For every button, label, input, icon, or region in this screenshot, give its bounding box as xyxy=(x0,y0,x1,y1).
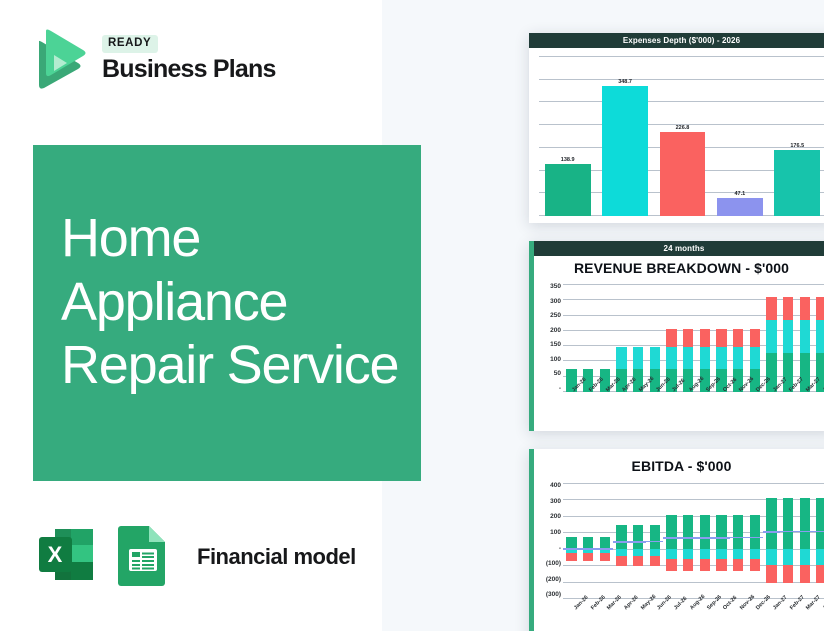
cogs-segment[interactable] xyxy=(633,549,643,556)
bar[interactable] xyxy=(602,86,648,216)
y-axis-tick: 150 xyxy=(535,342,561,349)
cogs-segment[interactable] xyxy=(616,549,626,556)
revenue-segment[interactable] xyxy=(733,515,743,549)
expenses-depth-card[interactable]: Expenses Depth ($'000) - 2026 138.9348.7… xyxy=(529,33,824,223)
bar-segment[interactable] xyxy=(716,329,726,347)
bar-value-label: 176.5 xyxy=(790,143,804,149)
ebitda-trend-line xyxy=(730,537,747,539)
bar-segment[interactable] xyxy=(683,347,693,369)
bar-segment[interactable] xyxy=(683,329,693,347)
bar-segment[interactable] xyxy=(766,320,776,352)
stacked-bar-column[interactable] xyxy=(700,515,710,571)
y-axis-tick: (300) xyxy=(535,592,561,599)
cogs-segment[interactable] xyxy=(650,549,660,556)
revenue-segment[interactable] xyxy=(783,498,793,549)
microsoft-excel-icon: X xyxy=(33,521,100,593)
ebitda-title: EBITDA - $'000 xyxy=(529,458,824,474)
y-axis-tick: 400 xyxy=(535,483,561,490)
opex-segment[interactable] xyxy=(683,559,693,571)
stacked-bar-column[interactable] xyxy=(800,498,810,583)
ebitda-trend-line xyxy=(680,537,697,539)
bar-column[interactable]: 138.9 xyxy=(545,56,591,216)
y-axis-tick: (100) xyxy=(535,561,561,568)
revenue-segment[interactable] xyxy=(650,525,660,549)
revenue-breakdown-title: REVENUE BREAKDOWN - $'000 xyxy=(529,260,824,276)
ebitda-trend-line xyxy=(663,537,680,539)
ebitda-trend-line xyxy=(763,531,780,533)
bar-segment[interactable] xyxy=(816,297,824,320)
brand-name: Business Plans xyxy=(102,56,276,84)
bar-segment[interactable] xyxy=(783,297,793,320)
ebitda-trend-line xyxy=(630,541,647,543)
bar-segment[interactable] xyxy=(750,329,760,347)
brand-lockup: READY Business Plans xyxy=(33,27,276,91)
revenue-segment[interactable] xyxy=(666,515,676,549)
opex-segment[interactable] xyxy=(666,559,676,571)
revenue-segment[interactable] xyxy=(700,515,710,549)
stacked-bar-column[interactable] xyxy=(750,515,760,571)
y-axis-tick: (200) xyxy=(535,577,561,584)
revenue-segment[interactable] xyxy=(633,525,643,549)
stacked-bar-column[interactable] xyxy=(766,498,776,583)
ebitda-trend-line xyxy=(713,537,730,539)
revenue-segment[interactable] xyxy=(800,498,810,549)
revenue-segment[interactable] xyxy=(616,525,626,549)
stacked-bar-column[interactable] xyxy=(783,284,793,392)
stacked-bar-column[interactable] xyxy=(600,284,610,392)
opex-segment[interactable] xyxy=(700,559,710,571)
revenue-segment[interactable] xyxy=(716,515,726,549)
ebitda-trend-line xyxy=(813,531,824,533)
svg-text:X: X xyxy=(48,542,63,567)
cogs-segment[interactable] xyxy=(800,549,810,565)
ebitda-trend-line xyxy=(697,537,714,539)
stacked-bar-column[interactable] xyxy=(716,515,726,571)
stacked-bar-column[interactable] xyxy=(650,525,660,565)
financial-model-label: Financial model xyxy=(197,544,356,570)
stacked-bar-column[interactable] xyxy=(733,515,743,571)
revenue-segment[interactable] xyxy=(816,498,824,549)
cogs-segment[interactable] xyxy=(666,549,676,559)
cogs-segment[interactable] xyxy=(700,549,710,559)
bar-segment[interactable] xyxy=(816,320,824,352)
bar-segment[interactable] xyxy=(733,329,743,347)
cogs-segment[interactable] xyxy=(816,549,824,565)
ebitda-trend-line xyxy=(580,548,597,550)
bar-value-label: 348.7 xyxy=(618,79,632,85)
revenue-segment[interactable] xyxy=(566,537,576,549)
ebitda-trend-line xyxy=(596,548,613,550)
stacked-bar-column[interactable] xyxy=(733,284,743,392)
cogs-segment[interactable] xyxy=(683,549,693,559)
opex-segment[interactable] xyxy=(766,565,776,583)
google-sheets-icon xyxy=(115,521,173,593)
ebitda-trend-line xyxy=(747,537,764,539)
bar-column[interactable]: 348.7 xyxy=(602,56,648,216)
cogs-segment[interactable] xyxy=(766,549,776,565)
stacked-bar-column[interactable] xyxy=(633,284,643,392)
cogs-segment[interactable] xyxy=(783,549,793,565)
y-axis-tick: 300 xyxy=(535,499,561,506)
bar-column[interactable]: 176.5 xyxy=(774,56,820,216)
bar-segment[interactable] xyxy=(650,347,660,369)
expenses-depth-banner: Expenses Depth ($'000) - 2026 xyxy=(529,33,824,48)
y-axis-tick: - xyxy=(535,386,561,393)
opex-segment[interactable] xyxy=(783,565,793,583)
footer-row: X Financial model xyxy=(33,521,356,593)
stacked-bar-column[interactable] xyxy=(683,515,693,571)
ebitda-trend-line xyxy=(563,548,580,550)
hero-panel: Home Appliance Repair Service xyxy=(33,145,421,481)
revenue-segment[interactable] xyxy=(583,537,593,549)
cogs-segment[interactable] xyxy=(716,549,726,559)
page-title: Home Appliance Repair Service xyxy=(61,207,411,398)
opex-segment[interactable] xyxy=(650,556,660,566)
stacked-bar-column[interactable] xyxy=(783,498,793,583)
brand-text: READY Business Plans xyxy=(102,35,276,83)
bar-segment[interactable] xyxy=(750,347,760,369)
opex-segment[interactable] xyxy=(583,553,593,561)
bar-segment[interactable] xyxy=(633,347,643,369)
y-axis-tick: 250 xyxy=(535,313,561,320)
opex-segment[interactable] xyxy=(733,559,743,571)
cogs-segment[interactable] xyxy=(733,549,743,559)
opex-segment[interactable] xyxy=(616,556,626,566)
stacked-bar-column[interactable] xyxy=(566,284,576,392)
opex-segment[interactable] xyxy=(750,559,760,571)
bar[interactable] xyxy=(774,150,820,216)
bar-segment[interactable] xyxy=(766,297,776,320)
bar[interactable] xyxy=(545,164,591,216)
bar-segment[interactable] xyxy=(733,347,743,369)
ebitda-trend-line xyxy=(780,531,797,533)
revenue-months-banner: 24 months xyxy=(534,241,824,256)
stacked-bar-column[interactable] xyxy=(633,525,643,565)
bar-segment[interactable] xyxy=(800,297,810,320)
stacked-bar-column[interactable] xyxy=(583,284,593,392)
play-triangle-logo-icon xyxy=(33,27,88,91)
bar-segment[interactable] xyxy=(800,320,810,352)
bar-value-label: 138.9 xyxy=(561,157,575,163)
revenue-segment[interactable] xyxy=(750,515,760,549)
bar-segment[interactable] xyxy=(783,320,793,352)
y-axis-tick: 300 xyxy=(535,299,561,306)
y-axis-tick: 100 xyxy=(535,530,561,537)
opex-segment[interactable] xyxy=(633,556,643,566)
revenue-breakdown-card[interactable]: 24 months REVENUE BREAKDOWN - $'000 3503… xyxy=(529,241,824,431)
opex-segment[interactable] xyxy=(566,553,576,561)
stacked-bar-column[interactable] xyxy=(616,525,626,565)
bar[interactable] xyxy=(717,198,763,216)
y-axis-tick: 50 xyxy=(535,371,561,378)
bar-segment[interactable] xyxy=(666,347,676,369)
bar-value-label: 47.1 xyxy=(735,191,746,197)
ebitda-card[interactable]: EBITDA - $'000 400300200100-(100)(200)(3… xyxy=(529,449,824,631)
bar-segment[interactable] xyxy=(700,329,710,347)
card-accent xyxy=(529,449,534,631)
revenue-segment[interactable] xyxy=(766,498,776,549)
opex-segment[interactable] xyxy=(716,559,726,571)
stacked-bar-column[interactable] xyxy=(666,515,676,571)
bar-column[interactable]: 47.1 xyxy=(717,56,763,216)
bar-segment[interactable] xyxy=(666,329,676,347)
y-axis-tick: 350 xyxy=(535,284,561,291)
y-axis-tick: 200 xyxy=(535,328,561,335)
stacked-bar-column[interactable] xyxy=(800,284,810,392)
bar-column[interactable]: 226.8 xyxy=(660,56,706,216)
card-accent xyxy=(529,241,534,431)
stacked-bar-column[interactable] xyxy=(683,284,693,392)
y-axis-tick: 200 xyxy=(535,514,561,521)
bar-segment[interactable] xyxy=(616,347,626,369)
bar-segment[interactable] xyxy=(716,347,726,369)
bar-segment[interactable] xyxy=(700,347,710,369)
opex-segment[interactable] xyxy=(800,565,810,583)
revenue-segment[interactable] xyxy=(683,515,693,549)
opex-segment[interactable] xyxy=(600,553,610,561)
y-axis-tick: 100 xyxy=(535,357,561,364)
ebitda-trend-line xyxy=(613,541,630,543)
cogs-segment[interactable] xyxy=(750,549,760,559)
opex-segment[interactable] xyxy=(816,565,824,583)
revenue-segment[interactable] xyxy=(600,537,610,549)
ebitda-trend-line xyxy=(646,541,663,543)
bar-segment[interactable] xyxy=(816,353,824,392)
ready-badge: READY xyxy=(102,35,158,53)
bar-value-label: 226.8 xyxy=(676,125,690,131)
y-axis-tick: - xyxy=(535,546,561,553)
stacked-bar-column[interactable] xyxy=(816,498,824,583)
bar[interactable] xyxy=(660,132,706,216)
ebitda-trend-line xyxy=(797,531,814,533)
